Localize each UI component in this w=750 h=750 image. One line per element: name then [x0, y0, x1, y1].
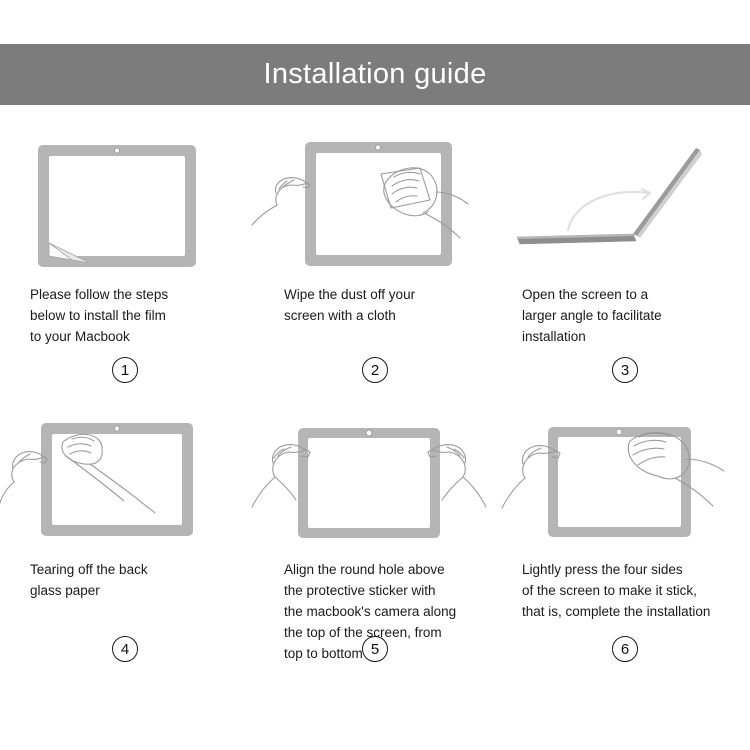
- step-4-number-badge: 4: [112, 636, 138, 662]
- page-title: Installation guide: [263, 58, 486, 91]
- step-card-6: Lightly press the four sides of the scre…: [500, 405, 750, 680]
- header-banner: Installation guide: [0, 44, 750, 105]
- step-3-illustration: [500, 130, 750, 270]
- step-6-caption: Lightly press the four sides of the scre…: [500, 559, 750, 622]
- installation-guide-page: Installation guide: [0, 0, 750, 750]
- step-card-4: Tearing off the back glass paper 4: [0, 405, 250, 680]
- laptop-open-angle-icon: [517, 148, 702, 244]
- hand-pressing-screen-icon: [502, 427, 724, 537]
- step-5-illustration: [250, 405, 500, 545]
- step-1-illustration: [0, 130, 250, 270]
- step-4-illustration: [0, 405, 250, 545]
- step-card-5: Align the round hole above the protectiv…: [250, 405, 500, 680]
- step-2-caption: Wipe the dust off your screen with a clo…: [250, 284, 500, 326]
- step-2-number-badge: 2: [362, 357, 388, 383]
- step-3-number-badge: 3: [612, 357, 638, 383]
- step-4-caption: Tearing off the back glass paper: [0, 559, 250, 601]
- step-3-caption: Open the screen to a larger angle to fac…: [500, 284, 750, 347]
- screen-with-peeling-film-icon: [38, 145, 196, 267]
- step-1-caption: Please follow the steps below to install…: [0, 284, 250, 347]
- hand-tearing-back-paper-icon: [0, 423, 193, 536]
- step-2-illustration: [250, 130, 500, 270]
- step-6-illustration: [500, 405, 750, 545]
- step-1-number-badge: 1: [112, 357, 138, 383]
- step-card-2: Wipe the dust off your screen with a clo…: [250, 130, 500, 405]
- steps-grid: Please follow the steps below to install…: [0, 130, 750, 680]
- step-5-number-badge: 5: [362, 636, 388, 662]
- two-hands-aligning-film-icon: [252, 428, 486, 538]
- hand-wiping-screen-with-cloth-icon: [252, 142, 468, 266]
- step-card-3: Open the screen to a larger angle to fac…: [500, 130, 750, 405]
- step-card-1: Please follow the steps below to install…: [0, 130, 250, 405]
- step-6-number-badge: 6: [612, 636, 638, 662]
